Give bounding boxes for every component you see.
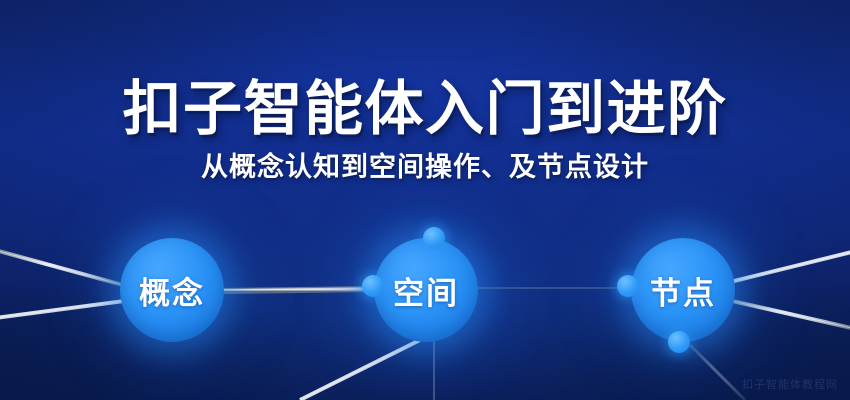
connector-left-lower: [0, 300, 132, 318]
node-concept-label: 概念: [139, 268, 205, 313]
node-space[interactable]: 空间: [374, 238, 478, 342]
node-space-label: 空间: [393, 268, 459, 313]
connector-concept-space: [222, 288, 378, 291]
connector-left-upper: [0, 250, 130, 287]
watermark: 扣子智能体教程网: [742, 376, 838, 392]
page-title: 扣子智能体入门到进阶: [0, 78, 850, 141]
connector-node-bottom-right: [690, 345, 745, 400]
connector-right-lower: [728, 300, 850, 330]
node-node-satellite-left: [617, 275, 639, 297]
node-space-satellite-top: [423, 227, 445, 249]
connector-right-upper: [730, 250, 850, 282]
node-node[interactable]: 节点: [631, 238, 735, 342]
banner-root: 扣子智能体入门到进阶 从概念认知到空间操作、及节点设计 概念 空间 节点 扣子智…: [0, 0, 850, 400]
connector-space-bottom-left: [300, 340, 420, 400]
page-subtitle: 从概念认知到空间操作、及节点设计: [0, 151, 850, 183]
node-node-satellite-bottom: [668, 331, 690, 353]
connector-space-node: [478, 288, 632, 290]
node-concept[interactable]: 概念: [120, 238, 224, 342]
headline-block: 扣子智能体入门到进阶 从概念认知到空间操作、及节点设计: [0, 78, 850, 183]
node-space-satellite-left: [362, 275, 384, 297]
node-node-label: 节点: [650, 268, 716, 313]
